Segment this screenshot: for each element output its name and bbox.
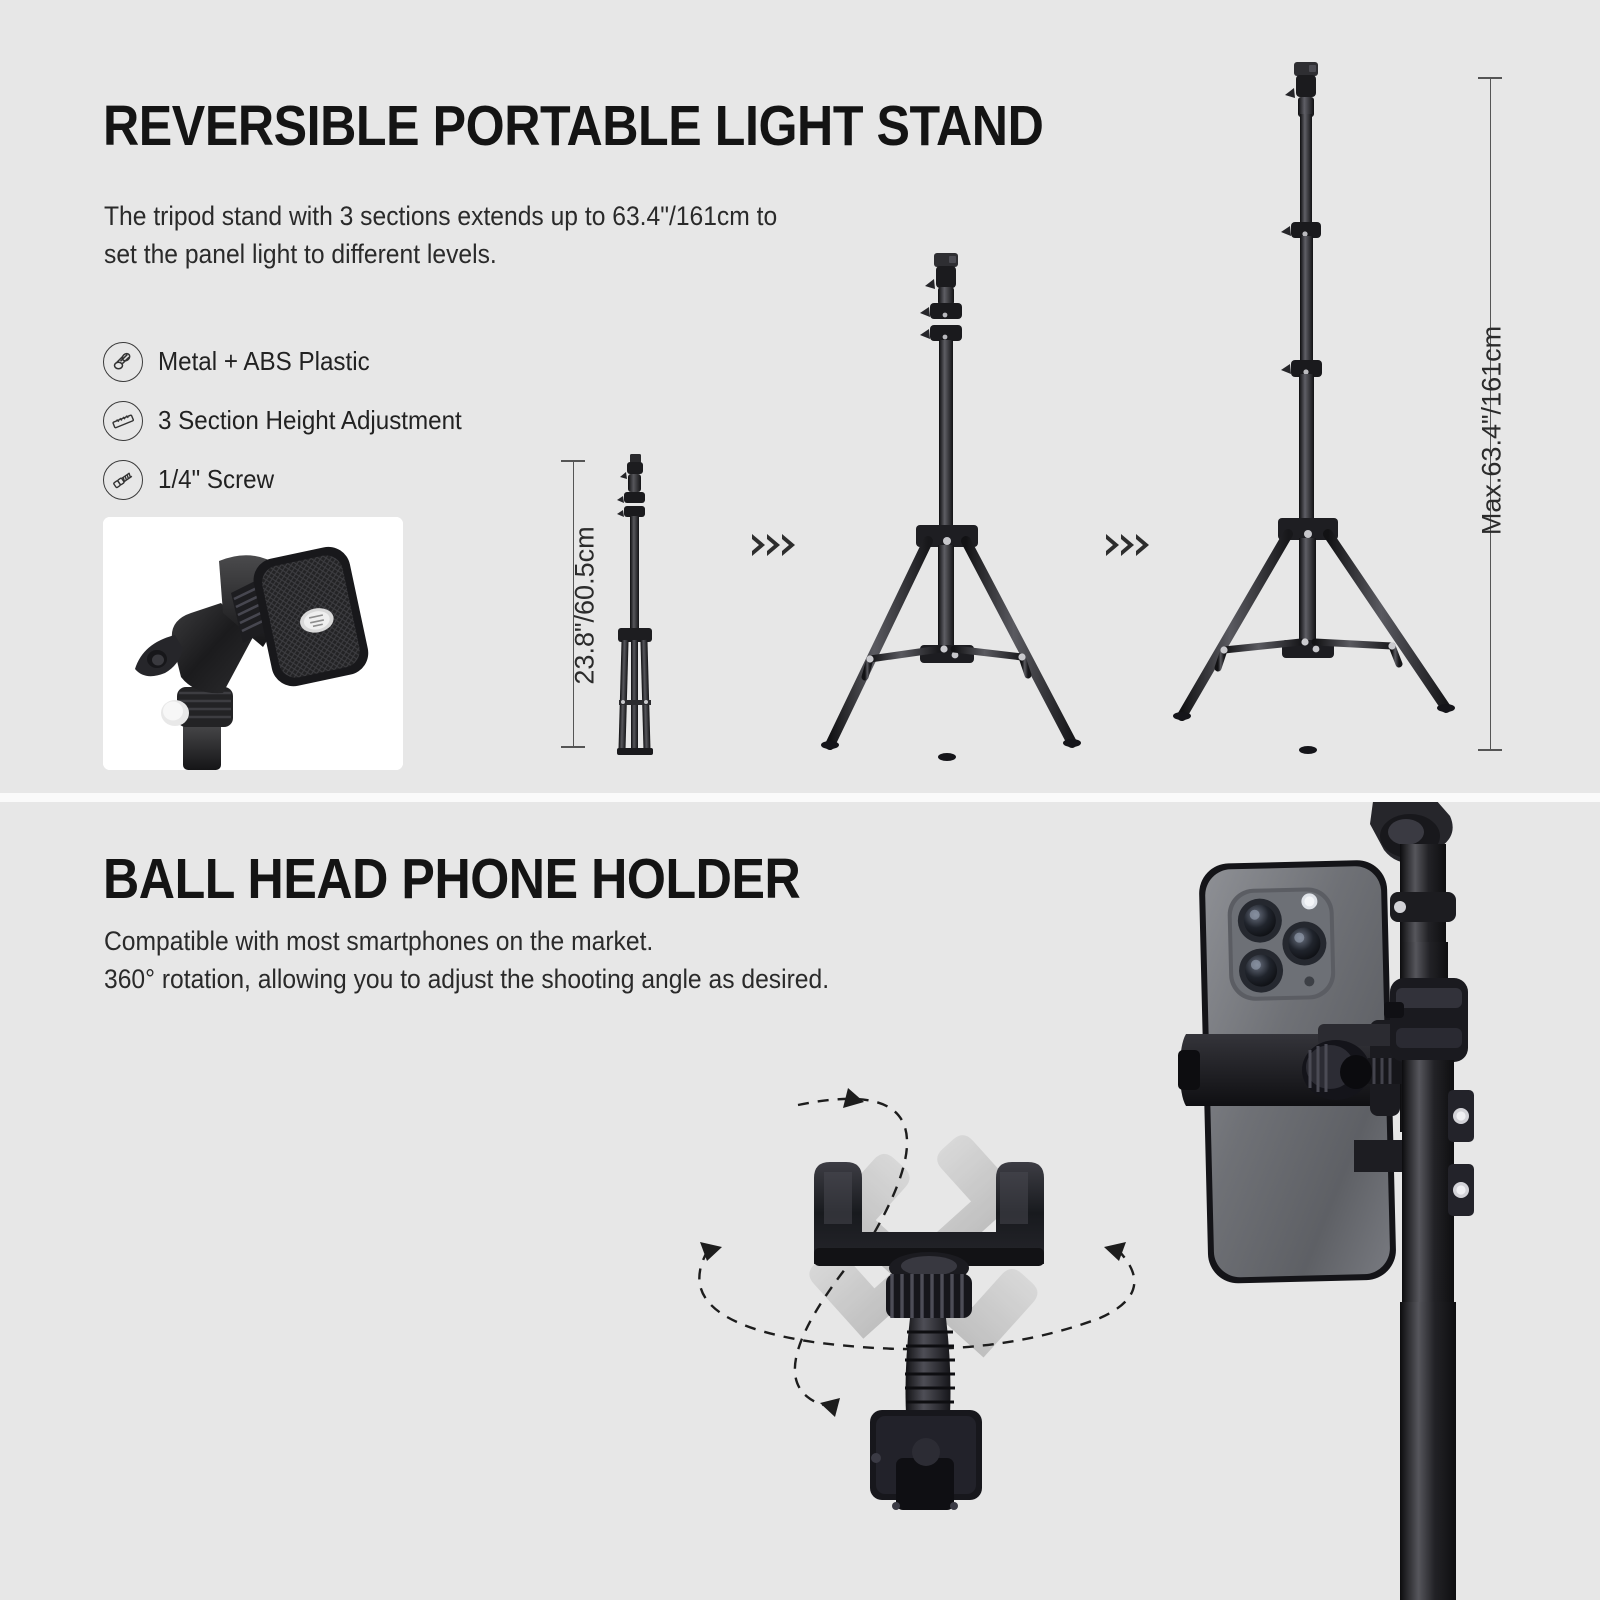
stand-description-line2: set the panel light to different levels.	[104, 235, 497, 273]
section-divider	[0, 793, 1600, 802]
collapsed-tripod	[590, 452, 680, 757]
feature-item-material: Metal + ABS Plastic	[103, 332, 485, 391]
dimension-max-label: Max.63.4"/161cm	[1477, 291, 1508, 571]
rotation-diagram	[648, 1060, 1178, 1550]
mid-extended-tripod	[808, 245, 1098, 760]
chevron-right-icon	[1121, 534, 1134, 556]
feature-label: 1/4" Screw	[158, 464, 274, 495]
holder-headline: BALL HEAD PHONE HOLDER	[103, 846, 800, 912]
stand-description-line1: The tripod stand with 3 sections extends…	[104, 197, 777, 235]
phone-holder-section: BALL HEAD PHONE HOLDER Compatible with m…	[0, 802, 1600, 1600]
stand-headline: REVERSIBLE PORTABLE LIGHT STAND	[103, 93, 1043, 159]
chevron-right-icon	[752, 534, 765, 556]
screw-thread-icon	[103, 460, 143, 500]
feature-label: Metal + ABS Plastic	[158, 346, 370, 377]
progression-arrow-2	[1106, 534, 1149, 556]
holder-description-line1: Compatible with most smartphones on the …	[104, 922, 653, 960]
material-tubes-icon	[103, 342, 143, 382]
feature-label: 3 Section Height Adjustment	[158, 405, 462, 436]
chevron-right-icon	[782, 534, 795, 556]
holder-description-line2: 360° rotation, allowing you to adjust th…	[104, 960, 829, 998]
fully-extended-tripod	[1158, 56, 1468, 756]
feature-item-screw: 1/4" Screw	[103, 450, 485, 509]
infographic-page: REVERSIBLE PORTABLE LIGHT STAND The trip…	[0, 0, 1600, 1600]
feature-item-sections: 3 Section Height Adjustment	[103, 391, 485, 450]
chevron-right-icon	[1106, 534, 1119, 556]
progression-arrow-1	[752, 534, 795, 556]
ruler-sections-icon	[103, 401, 143, 441]
phone-in-holder-photo	[1178, 802, 1600, 1600]
ball-head-inset-photo	[103, 517, 403, 770]
chevron-right-icon	[767, 534, 780, 556]
light-stand-section: REVERSIBLE PORTABLE LIGHT STAND The trip…	[0, 0, 1600, 793]
feature-list: Metal + ABS Plastic 3 Section Height	[103, 332, 485, 509]
chevron-right-icon	[1136, 534, 1149, 556]
